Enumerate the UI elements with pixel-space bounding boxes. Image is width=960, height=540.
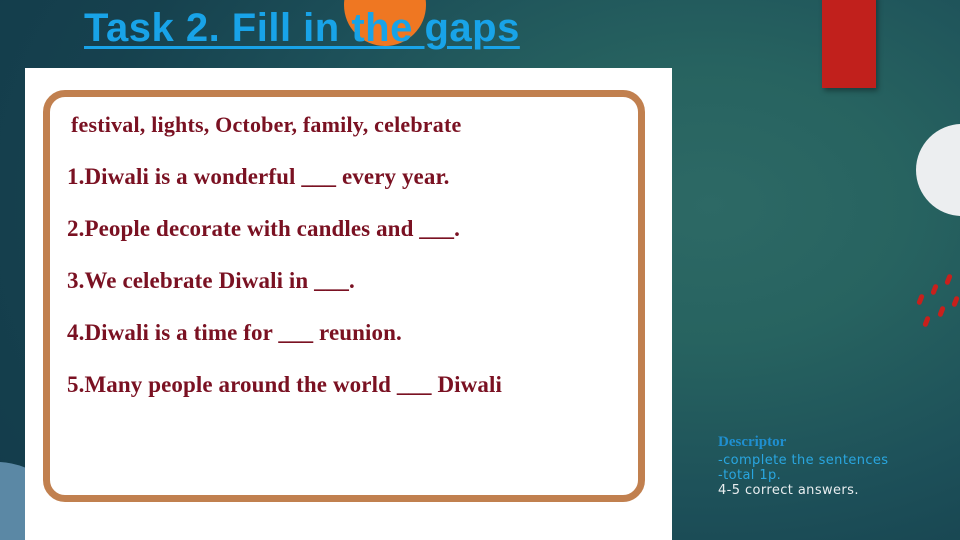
slide-canvas: Task 2. Fill in the gaps festival, light… bbox=[0, 0, 960, 540]
red-dash-icon bbox=[930, 283, 939, 295]
red-rectangle-decoration bbox=[822, 0, 876, 88]
red-dash-icon bbox=[951, 295, 960, 307]
slide-title: Task 2. Fill in the gaps bbox=[84, 6, 520, 51]
descriptor-block: Descriptor -complete the sentences -tota… bbox=[718, 434, 946, 499]
descriptor-title: Descriptor bbox=[718, 434, 946, 452]
red-dash-icon bbox=[922, 315, 931, 327]
question-item-5: 5.Many people around the world ___ Diwal… bbox=[67, 372, 644, 398]
descriptor-line-3: 4-5 correct answers. bbox=[718, 483, 946, 498]
question-list: 1.Diwali is a wonderful ___ every year. … bbox=[67, 164, 644, 398]
exercise-content: festival, lights, October, family, celeb… bbox=[67, 112, 644, 398]
descriptor-line-1: -complete the sentences bbox=[718, 453, 946, 468]
question-item-2: 2.People decorate with candles and ___. bbox=[67, 216, 644, 242]
red-dash-icon bbox=[944, 273, 953, 285]
red-dash-icon bbox=[937, 305, 946, 317]
question-item-1: 1.Diwali is a wonderful ___ every year. bbox=[67, 164, 644, 190]
white-circle-decoration bbox=[916, 124, 960, 216]
red-dash-icon bbox=[916, 293, 925, 305]
red-dashes-decoration bbox=[906, 272, 960, 328]
question-item-3: 3.We celebrate Diwali in ___. bbox=[67, 268, 644, 294]
exercise-card: festival, lights, October, family, celeb… bbox=[25, 68, 672, 540]
question-item-4: 4.Diwali is a time for ___ reunion. bbox=[67, 320, 644, 346]
descriptor-line-2: -total 1p. bbox=[718, 468, 946, 483]
word-bank: festival, lights, October, family, celeb… bbox=[71, 112, 644, 138]
